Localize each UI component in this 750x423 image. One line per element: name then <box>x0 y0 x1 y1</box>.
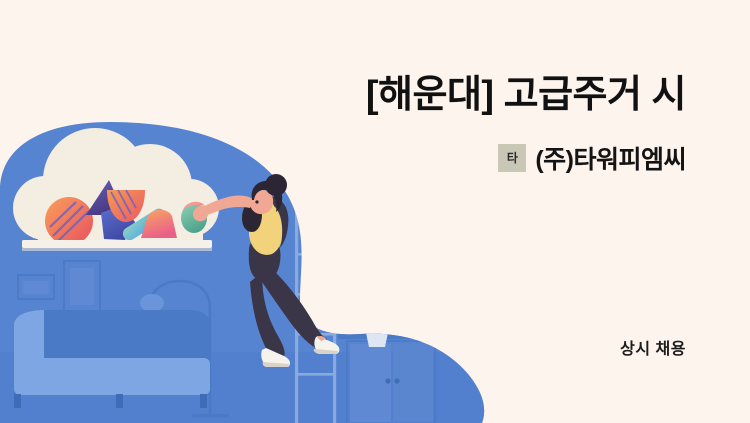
company-name: (주)타워피엠씨 <box>535 140 686 176</box>
person-hair-bun <box>265 174 287 196</box>
person-eye <box>255 200 258 203</box>
shelf-board-shadow <box>22 248 212 251</box>
shelf-board <box>22 240 212 248</box>
page-title: [해운대] 고급주거 시 <box>126 72 686 120</box>
striped-orange-sphere <box>45 197 93 245</box>
blue-sofa <box>14 310 210 408</box>
job-poster: [해운대] 고급주거 시 타 (주)타워피엠씨 상시 채용 <box>0 0 750 423</box>
company-logo-badge: 타 <box>498 144 526 172</box>
company-row: 타 (주)타워피엠씨 <box>498 140 686 176</box>
illustration-artwork <box>0 0 750 423</box>
hiring-type-label: 상시 채용 <box>620 335 686 359</box>
